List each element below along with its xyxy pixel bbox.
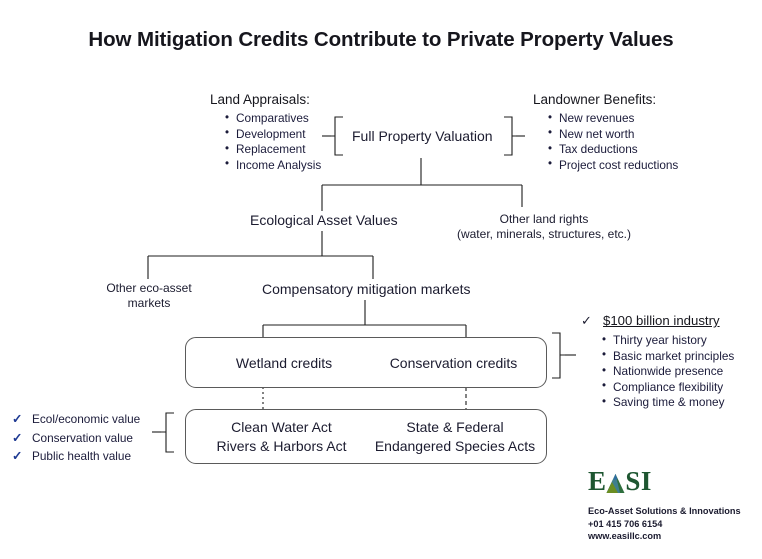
clean-water-act-line-1: Clean Water Act — [194, 418, 369, 437]
acts-box: Clean Water Act Rivers & Harbors Act Sta… — [185, 409, 547, 464]
logo-letter-e: E — [588, 466, 606, 496]
list-item: Conservation value — [10, 429, 140, 448]
node-other-eco-asset-markets: Other eco-asset markets — [96, 281, 202, 311]
list-item: Basic market principles — [600, 349, 734, 365]
footer-branding: E SI Eco-Asset Solutions & Innovations +… — [588, 466, 762, 556]
brace-left-values — [161, 413, 174, 452]
list-item: New revenues — [546, 111, 678, 127]
list-item: Tax deductions — [546, 142, 678, 158]
landowner-benefits-panel: Landowner Benefits: New revenues New net… — [533, 92, 678, 173]
brace-right-benefits — [504, 117, 516, 155]
footer-company: Eco-Asset Solutions & Innovations — [588, 505, 762, 518]
list-item: Project cost reductions — [546, 158, 678, 174]
land-appraisals-panel: Land Appraisals: Comparatives Developmen… — [210, 92, 321, 173]
land-appraisals-heading: Land Appraisals: — [210, 92, 321, 107]
logo-letters-si: SI — [625, 466, 651, 496]
node-compensatory-mitigation-markets: Compensatory mitigation markets — [262, 281, 471, 297]
brace-left-appraisals — [331, 117, 343, 155]
industry-headline-text: $100 billion industry — [603, 313, 720, 328]
landowner-benefits-heading: Landowner Benefits: — [533, 92, 678, 107]
industry-panel: $100 billion industry Thirty year histor… — [581, 313, 734, 411]
other-eco-asset-line-2: markets — [96, 296, 202, 311]
other-eco-asset-line-1: Other eco-asset — [96, 281, 202, 296]
mountain-icon — [606, 473, 625, 494]
node-ecological-asset-values: Ecological Asset Values — [250, 212, 398, 228]
footer-website[interactable]: www.easillc.com — [588, 530, 762, 543]
clean-water-act-line-2: Rivers & Harbors Act — [194, 437, 369, 456]
brace-right-industry — [552, 333, 565, 378]
list-item: Compliance flexibility — [600, 380, 734, 396]
list-item: Comparatives — [223, 111, 321, 127]
list-item: Ecol/economic value — [10, 410, 140, 429]
list-item: Nationwide presence — [600, 364, 734, 380]
list-item: Public health value — [10, 447, 140, 466]
footer-contact: Eco-Asset Solutions & Innovations +01 41… — [588, 505, 762, 543]
landowner-benefits-list: New revenues New net worth Tax deduction… — [546, 111, 678, 173]
list-item: Development — [223, 127, 321, 143]
endangered-species-line-2: Endangered Species Acts — [366, 437, 544, 456]
list-item: New net worth — [546, 127, 678, 143]
endangered-species-line-1: State & Federal — [366, 418, 544, 437]
wetland-credits-label: Wetland credits — [204, 354, 364, 373]
industry-headline: $100 billion industry — [581, 313, 734, 328]
easi-logo: E SI — [588, 466, 762, 496]
values-list: Ecol/economic value Conservation value P… — [10, 410, 140, 466]
industry-list: Thirty year history Basic market princip… — [600, 333, 734, 411]
list-item: Saving time & money — [600, 395, 734, 411]
other-land-rights-line-2: (water, minerals, structures, etc.) — [440, 227, 648, 242]
node-other-land-rights: Other land rights (water, minerals, stru… — [440, 212, 648, 242]
land-appraisals-list: Comparatives Development Replacement Inc… — [223, 111, 321, 173]
other-land-rights-line-1: Other land rights — [440, 212, 648, 227]
list-item: Thirty year history — [600, 333, 734, 349]
endangered-species-act-block: State & Federal Endangered Species Acts — [366, 418, 544, 456]
credits-box: Wetland credits Conservation credits — [185, 337, 547, 388]
node-full-property-valuation: Full Property Valuation — [352, 128, 493, 144]
conservation-credits-label: Conservation credits — [371, 354, 536, 373]
values-panel: Ecol/economic value Conservation value P… — [10, 410, 140, 466]
footer-phone: +01 415 706 6154 — [588, 518, 762, 531]
list-item: Replacement — [223, 142, 321, 158]
list-item: Income Analysis — [223, 158, 321, 174]
clean-water-act-block: Clean Water Act Rivers & Harbors Act — [194, 418, 369, 456]
page-title: How Mitigation Credits Contribute to Pri… — [0, 28, 762, 52]
